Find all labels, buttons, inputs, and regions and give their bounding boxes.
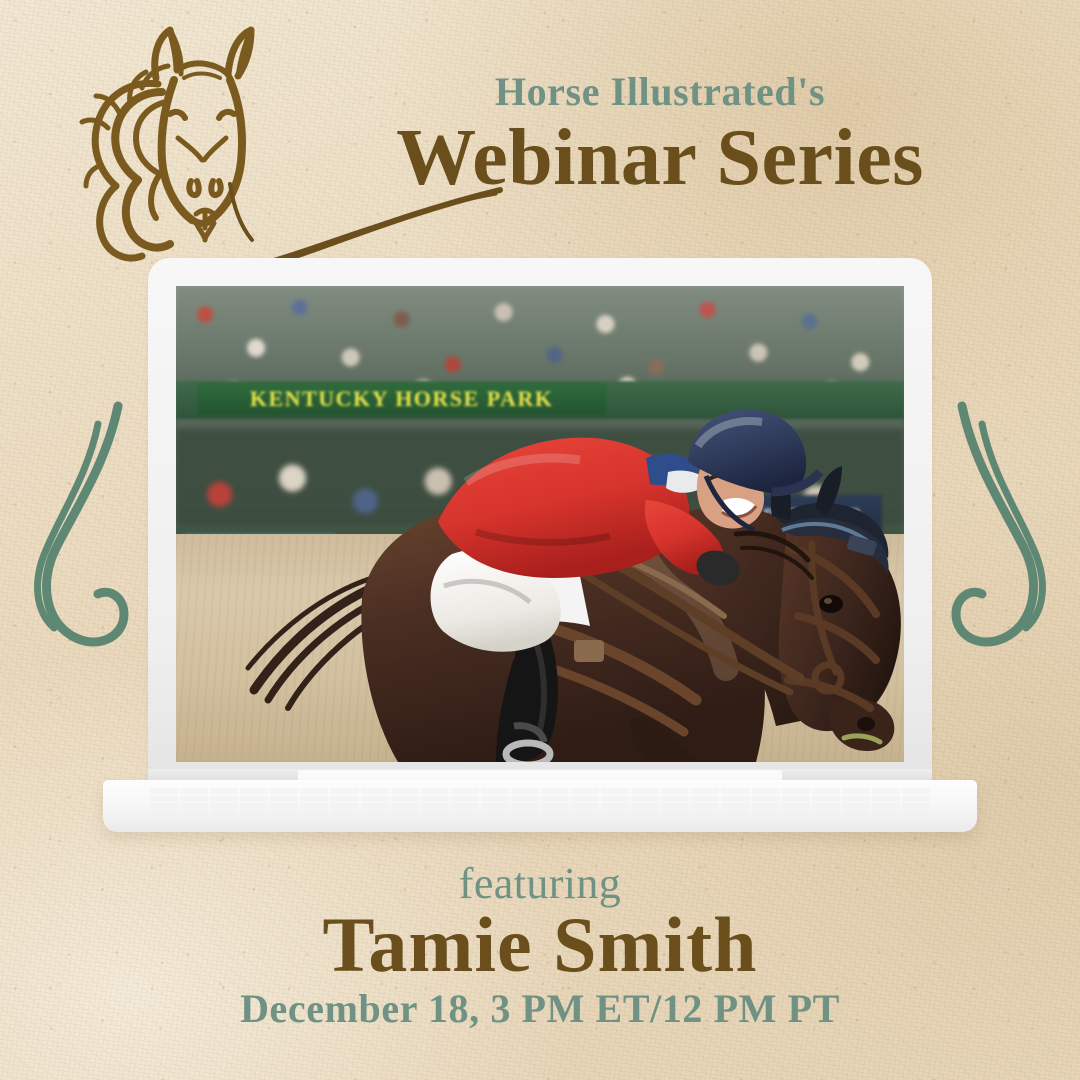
keyboard-row: [150, 788, 930, 794]
key: [240, 803, 268, 809]
speaker-name: Tamie Smith: [0, 900, 1080, 990]
key: [300, 803, 328, 809]
key: [270, 796, 298, 802]
key: [511, 796, 539, 802]
key: [571, 796, 599, 802]
key: [300, 788, 328, 794]
key: [721, 811, 749, 817]
key: [782, 811, 810, 817]
key: [421, 811, 449, 817]
key: [661, 796, 689, 802]
key: [210, 796, 238, 802]
keyboard-row: [150, 796, 930, 802]
key: [391, 803, 419, 809]
key: [361, 811, 389, 817]
key: [391, 811, 419, 817]
key: [902, 803, 930, 809]
key: [511, 811, 539, 817]
key: [902, 796, 930, 802]
key: [421, 796, 449, 802]
key: [180, 803, 208, 809]
key: [541, 796, 569, 802]
key: [812, 796, 840, 802]
key: [902, 788, 930, 794]
key: [721, 803, 749, 809]
event-datetime: December 18, 3 PM ET/12 PM PT: [0, 985, 1080, 1032]
key: [872, 796, 900, 802]
key: [691, 796, 719, 802]
key: [571, 788, 599, 794]
key: [300, 796, 328, 802]
key: [421, 788, 449, 794]
key: [752, 811, 780, 817]
key: [451, 796, 479, 802]
key: [721, 796, 749, 802]
key: [782, 803, 810, 809]
key: [661, 811, 689, 817]
key: [601, 811, 629, 817]
key: [872, 811, 900, 817]
key: [330, 803, 358, 809]
key: [812, 811, 840, 817]
key: [511, 788, 539, 794]
key: [721, 788, 749, 794]
key: [180, 788, 208, 794]
key: [240, 811, 268, 817]
key: [691, 811, 719, 817]
horse-eye: [819, 595, 843, 613]
key: [210, 803, 238, 809]
key: [601, 796, 629, 802]
key: [872, 788, 900, 794]
key: [180, 796, 208, 802]
webinar-photo: KENTUCKY HORSE PARK COSEQUIN DEFENDER: [176, 286, 904, 762]
key: [330, 811, 358, 817]
key: [691, 788, 719, 794]
key: [451, 788, 479, 794]
key: [782, 788, 810, 794]
key: [631, 811, 659, 817]
key: [842, 811, 870, 817]
key: [601, 788, 629, 794]
horse-and-rider-illustration: [176, 286, 904, 762]
key: [481, 788, 509, 794]
key: [752, 788, 780, 794]
key: [451, 803, 479, 809]
laptop-mockup: KENTUCKY HORSE PARK COSEQUIN DEFENDER: [0, 250, 1080, 850]
key: [240, 788, 268, 794]
key: [481, 803, 509, 809]
webinar-promo-poster: Horse Illustrated's Webinar Series: [0, 0, 1080, 1080]
key: [842, 796, 870, 802]
key: [601, 803, 629, 809]
key: [571, 803, 599, 809]
key: [511, 803, 539, 809]
key: [661, 788, 689, 794]
key: [210, 788, 238, 794]
key: [361, 788, 389, 794]
key: [842, 788, 870, 794]
brand-kicker: Horse Illustrated's: [300, 72, 1020, 112]
key: [842, 803, 870, 809]
key: [812, 788, 840, 794]
key: [872, 803, 900, 809]
key: [631, 803, 659, 809]
key: [361, 803, 389, 809]
key: [361, 796, 389, 802]
key: [782, 796, 810, 802]
key: [150, 803, 178, 809]
key: [752, 803, 780, 809]
key: [270, 803, 298, 809]
keyboard-row: [150, 803, 930, 809]
keyboard-row: [150, 811, 930, 817]
key: [330, 788, 358, 794]
key: [391, 796, 419, 802]
key: [180, 811, 208, 817]
key: [150, 811, 178, 817]
key: [541, 811, 569, 817]
key: [421, 803, 449, 809]
key: [661, 803, 689, 809]
key: [150, 788, 178, 794]
key: [481, 811, 509, 817]
key: [812, 803, 840, 809]
key: [571, 811, 599, 817]
key: [631, 788, 659, 794]
key: [210, 811, 238, 817]
key: [330, 796, 358, 802]
key: [270, 811, 298, 817]
key: [541, 788, 569, 794]
key: [451, 811, 479, 817]
key: [150, 796, 178, 802]
key: [270, 788, 298, 794]
key: [631, 796, 659, 802]
key: [902, 811, 930, 817]
key: [240, 796, 268, 802]
key: [541, 803, 569, 809]
key: [391, 788, 419, 794]
key: [300, 811, 328, 817]
laptop-keyboard: [150, 788, 930, 816]
key: [481, 796, 509, 802]
key: [752, 796, 780, 802]
key: [691, 803, 719, 809]
laptop-screen: KENTUCKY HORSE PARK COSEQUIN DEFENDER: [176, 286, 904, 762]
